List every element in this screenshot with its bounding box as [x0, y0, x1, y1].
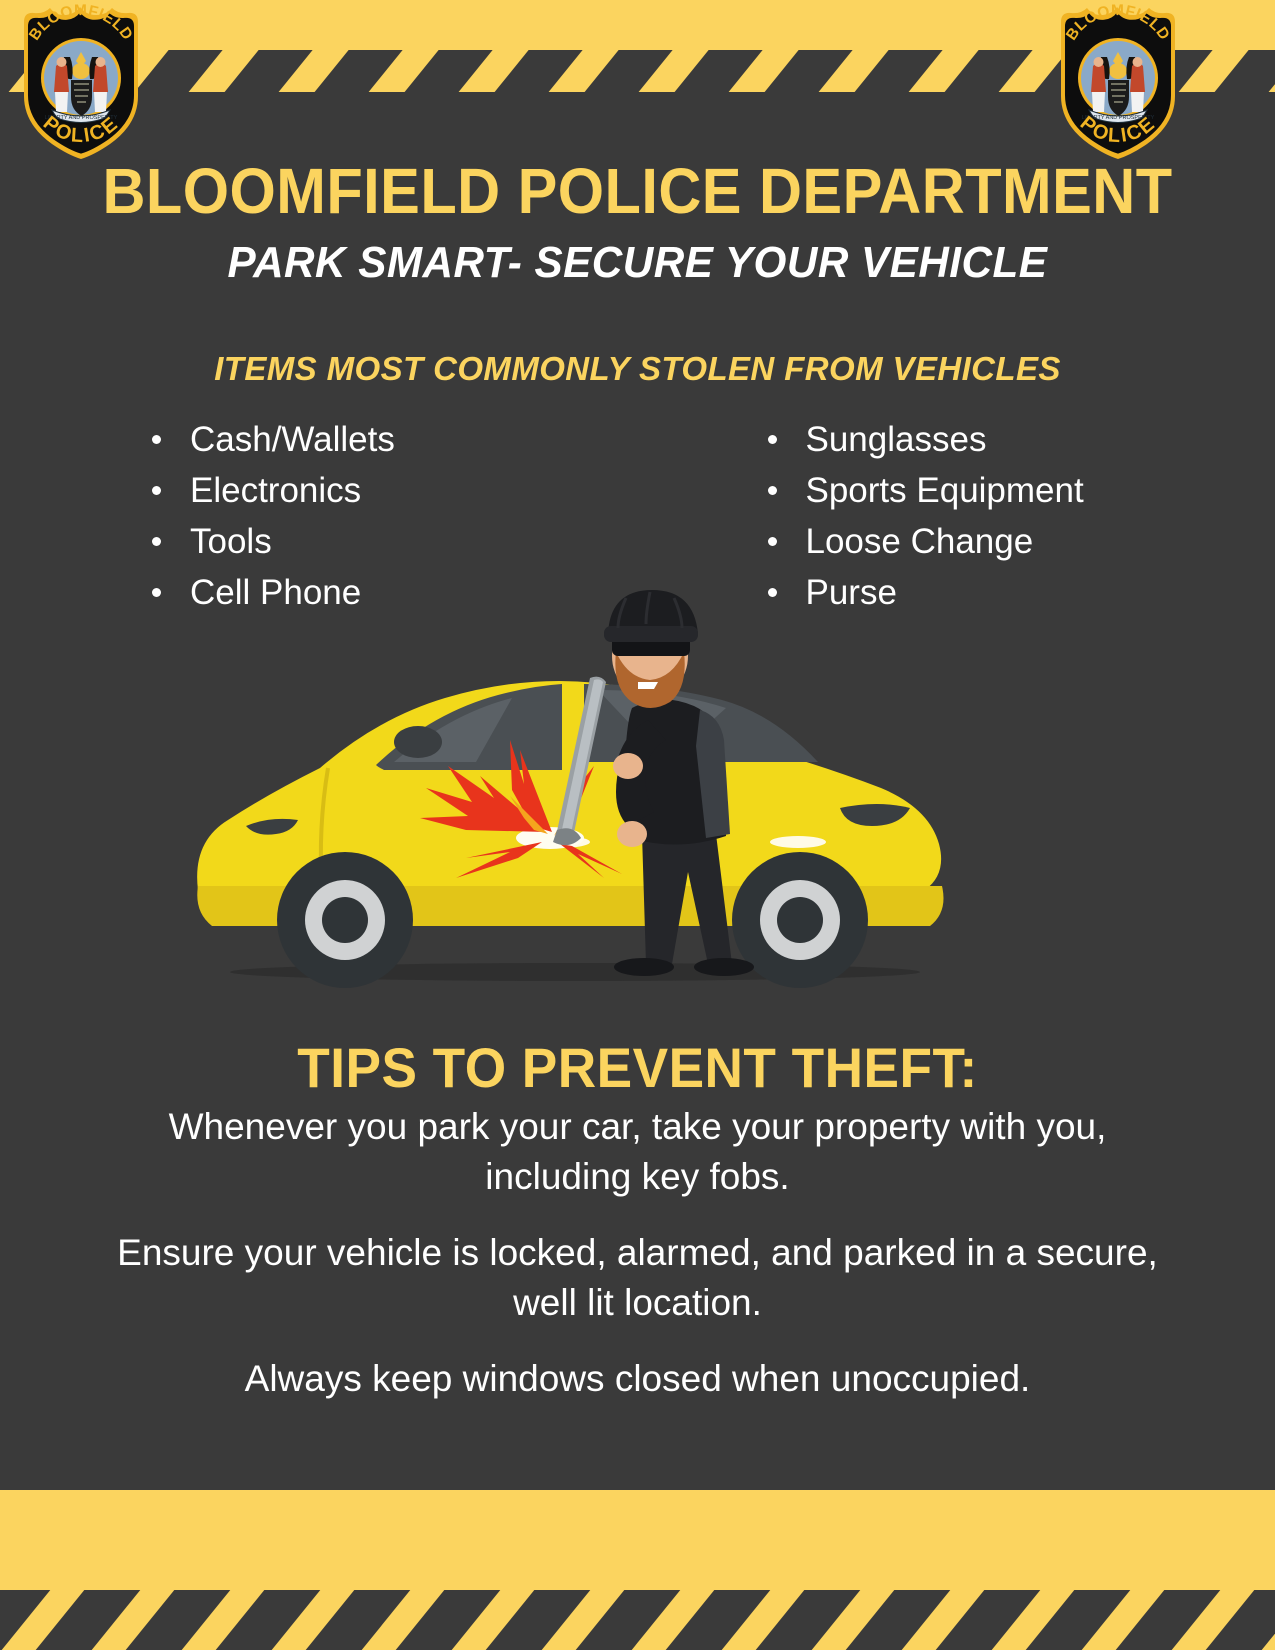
list-item-label: Loose Change	[806, 522, 1034, 561]
caution-band-bottom	[0, 1490, 1275, 1650]
caution-stripe	[401, 50, 492, 96]
tip-item: Ensure your vehicle is locked, alarmed, …	[95, 1228, 1180, 1328]
poster-page: LIBERTY AND PROSPERITY BLOOMFIELD POLICE	[0, 0, 1275, 1650]
caution-stripe	[221, 50, 312, 96]
bullet-dot-icon	[152, 486, 161, 495]
bullet-dot-icon	[768, 537, 777, 546]
stolen-items-heading: ITEMS MOST COMMONLY STOLEN FROM VEHICLES	[0, 350, 1275, 388]
caution-stripe	[491, 50, 582, 96]
stolen-items-right-column: Sunglasses Sports Equipment Loose Change…	[638, 414, 1275, 618]
caution-stripe	[126, 1590, 231, 1650]
caution-stripe	[666, 1590, 771, 1650]
page-subtitle: PARK SMART- SECURE YOUR VEHICLE	[26, 238, 1250, 288]
bullet-dot-icon	[152, 537, 161, 546]
caution-stripe	[581, 50, 672, 96]
caution-stripe	[756, 1590, 861, 1650]
caution-stripe	[671, 50, 762, 96]
list-item: Electronics	[150, 465, 638, 516]
list-item-label: Electronics	[190, 471, 361, 510]
caution-stripe	[941, 50, 1032, 96]
list-item: Sports Equipment	[766, 465, 1275, 516]
bullet-dot-icon	[152, 435, 161, 444]
caution-stripe	[761, 50, 852, 96]
stolen-items-left-column: Cash/Wallets Electronics Tools Cell Phon…	[0, 414, 638, 618]
stolen-items-lists: Cash/Wallets Electronics Tools Cell Phon…	[0, 414, 1275, 618]
caution-stripe	[396, 1590, 501, 1650]
caution-stripe	[576, 1590, 681, 1650]
list-item-label: Sunglasses	[806, 420, 987, 459]
caution-stripe	[216, 1590, 321, 1650]
list-item: Cash/Wallets	[150, 414, 638, 465]
thief-breaking-car-window-illustration	[180, 590, 970, 1000]
list-item: Sunglasses	[766, 414, 1275, 465]
page-title: BLOOMFIELD POLICE DEPARTMENT	[45, 158, 1231, 225]
caution-stripe	[1211, 50, 1275, 96]
caution-stripe	[486, 1590, 591, 1650]
bullet-dot-icon	[768, 486, 777, 495]
police-badge-icon: LIBERTY AND PROSPERITY BLOOMFIELD POLICE	[1049, 4, 1199, 162]
police-badge-icon: LIBERTY AND PROSPERITY BLOOMFIELD POLICE	[12, 4, 162, 162]
caution-stripe	[936, 1590, 1041, 1650]
list-item: Tools	[150, 516, 638, 567]
caution-stripe	[36, 1590, 141, 1650]
police-badge-left: LIBERTY AND PROSPERITY BLOOMFIELD POLICE	[12, 4, 162, 162]
list-item-label: Sports Equipment	[806, 471, 1084, 510]
tip-item: Whenever you park your car, take your pr…	[95, 1102, 1180, 1202]
bullet-dot-icon	[768, 435, 777, 444]
bullet-dot-icon	[152, 588, 161, 597]
tip-item: Always keep windows closed when unoccupi…	[95, 1354, 1180, 1404]
caution-stripe	[851, 50, 942, 96]
list-item: Loose Change	[766, 516, 1275, 567]
list-item-label: Tools	[190, 522, 272, 561]
caution-stripe	[1116, 1590, 1221, 1650]
caution-stripe	[1206, 1590, 1275, 1650]
police-badge-right: LIBERTY AND PROSPERITY BLOOMFIELD POLICE	[1049, 4, 1199, 162]
tips-heading: TIPS TO PREVENT THEFT:	[32, 1035, 1243, 1100]
tips-list: Whenever you park your car, take your pr…	[95, 1102, 1180, 1430]
caution-stripes-bottom	[0, 1590, 1275, 1650]
caution-stripe	[311, 50, 402, 96]
car-front-wheel	[277, 852, 413, 988]
car-door-handle	[770, 836, 826, 848]
caution-stripe	[306, 1590, 411, 1650]
caution-stripe	[846, 1590, 951, 1650]
caution-stripe	[1026, 1590, 1131, 1650]
list-item-label: Cash/Wallets	[190, 420, 395, 459]
